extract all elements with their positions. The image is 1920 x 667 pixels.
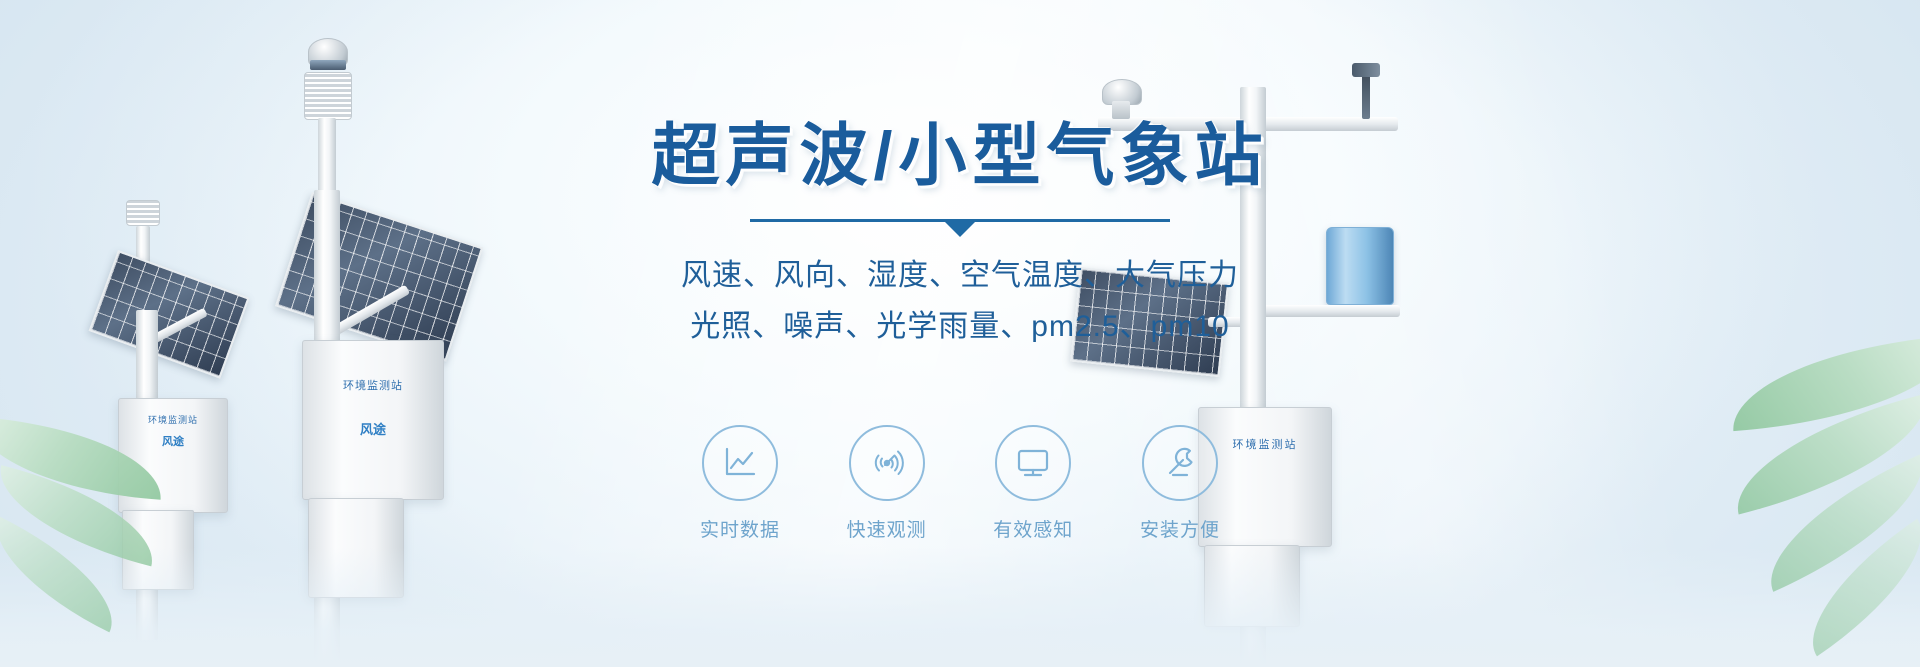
- line-chart-icon: [720, 443, 760, 483]
- cabinet-logo: 风途: [303, 419, 443, 438]
- sensor-collar: [310, 60, 346, 70]
- cabinet-logo: 风途: [119, 433, 227, 449]
- cabinet-label: 环境监测站: [303, 377, 443, 393]
- sensor-stem: [1112, 101, 1130, 119]
- wrench-icon: [1160, 443, 1200, 483]
- monitor-icon: [1013, 443, 1053, 483]
- subtitle-line-1: 风速、风向、湿度、空气温度、大气压力: [590, 253, 1330, 300]
- page-title: 超声波/小型气象站: [590, 120, 1330, 193]
- feature-circle: [995, 425, 1071, 501]
- feature-circle: [702, 425, 778, 501]
- feature-label: 快速观测: [827, 515, 947, 542]
- feature-label: 安装方便: [1120, 515, 1240, 542]
- radiation-shield-icon: [304, 72, 352, 120]
- caret-down-icon: [945, 222, 975, 237]
- rain-gauge: [1326, 227, 1394, 305]
- feature-circle: [849, 425, 925, 501]
- equipment-cabinet: 环境监测站 风途: [118, 398, 228, 513]
- equipment-cabinet: 环境监测站 风途: [302, 340, 444, 500]
- headline-block: 超声波/小型气象站 风速、风向、湿度、空气温度、大气压力 光照、噪声、光学雨量、…: [590, 120, 1330, 350]
- cabinet-label: 环境监测站: [119, 413, 227, 426]
- feature-item-effective-sensing[interactable]: 有效感知: [973, 425, 1093, 542]
- feature-item-fast-observation[interactable]: 快速观测: [827, 425, 947, 542]
- feature-item-easy-install[interactable]: 安装方便: [1120, 425, 1240, 542]
- feature-label: 有效感知: [973, 515, 1093, 542]
- feature-list: 实时数据 快速观测: [680, 425, 1240, 542]
- radar-wave-icon: [867, 443, 907, 483]
- feature-label: 实时数据: [680, 515, 800, 542]
- feature-circle: [1142, 425, 1218, 501]
- radiation-shield-icon: [126, 200, 160, 226]
- divider: [750, 219, 1170, 237]
- solar-panel: [275, 192, 483, 362]
- ground-fade: [0, 547, 1920, 667]
- feature-item-realtime-data[interactable]: 实时数据: [680, 425, 800, 542]
- wind-vane-fin: [1352, 63, 1380, 77]
- product-banner: 环境监测站 风途 环境监测站 风途: [0, 0, 1920, 667]
- solar-panel: [89, 250, 250, 379]
- subtitle-line-2: 光照、噪声、光学雨量、pm2.5、pm10: [590, 304, 1330, 351]
